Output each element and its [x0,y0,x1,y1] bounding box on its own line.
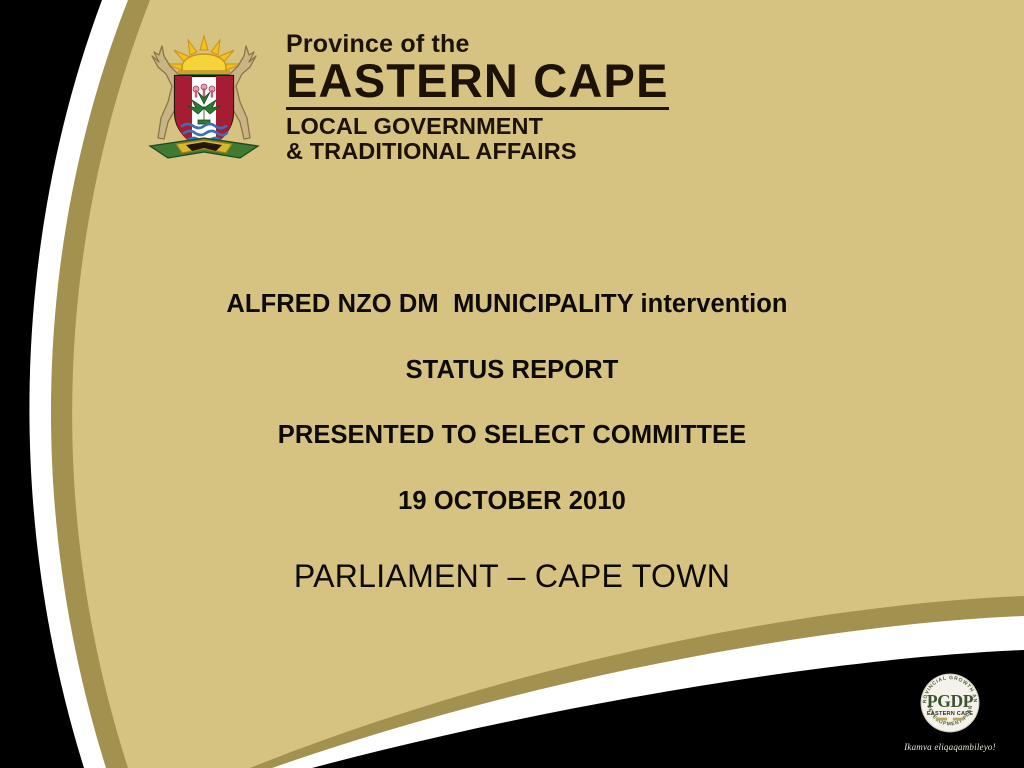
logo-main-line: EASTERN CAPE [286,58,669,104]
title-line-subject: ALFRED NZO DM MUNICIPALITY intervention [0,292,1024,318]
logo-sub-line-1: LOCAL GOVERNMENT [286,114,669,139]
pgdp-seal-block: PROVINCIAL GROWTH AND DEVELOPMENT PLAN P… [896,668,1004,752]
svg-text:EASTERN CAPE: EASTERN CAPE [927,711,973,717]
title-line-document-type: STATUS REPORT [0,358,1024,384]
logo-sub-line-2: & TRADITIONAL AFFAIRS [286,139,669,164]
svg-text:PGDP: PGDP [927,691,974,711]
title-line-audience: PRESENTED TO SELECT COMMITTEE [0,423,1024,449]
slide-title-block: ALFRED NZO DM MUNICIPALITY intervention … [0,292,1024,592]
title-line-venue: PARLIAMENT – CAPE TOWN [0,560,1024,592]
eastern-cape-coat-of-arms-icon [128,26,280,166]
logo-divider-rule [286,107,669,110]
title-line-date: 19 OCTOBER 2010 [0,489,1024,515]
logo-wordmark: Province of the EASTERN CAPE LOCAL GOVER… [286,26,669,165]
pgdp-seal-icon: PROVINCIAL GROWTH AND DEVELOPMENT PLAN P… [915,668,985,738]
eastern-cape-logo: Province of the EASTERN CAPE LOCAL GOVER… [128,26,669,166]
presentation-slide: Province of the EASTERN CAPE LOCAL GOVER… [0,0,1024,768]
pgdp-seal-tagline: Ikamva eliqaqambileyo! [896,742,1004,752]
